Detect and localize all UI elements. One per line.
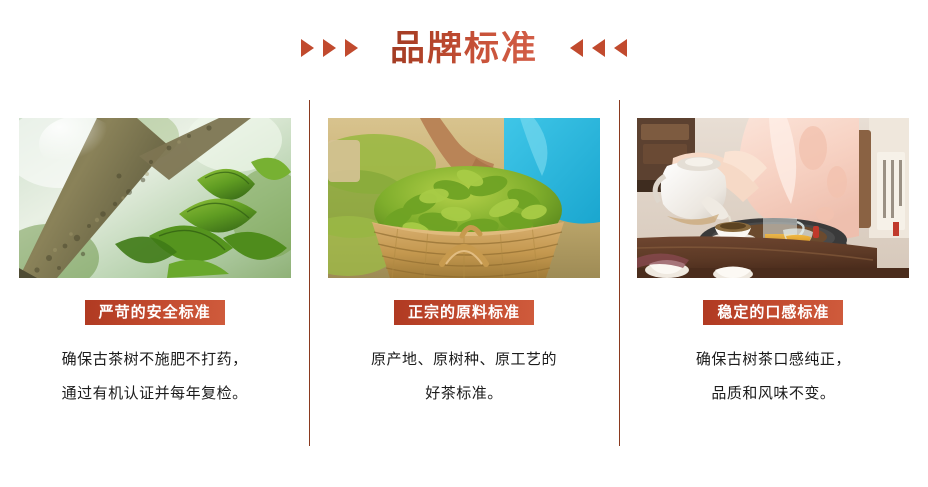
triangle-right-icon: [323, 39, 336, 57]
standard-column: 严苛的安全标准 确保古茶树不施肥不打药， 通过有机认证并每年复检。: [0, 100, 309, 450]
description-line: 确保古茶树不施肥不打药，: [62, 343, 248, 377]
description-line: 确保古树茶口感纯正，: [696, 343, 851, 377]
page-header: 品牌标准: [0, 20, 928, 76]
standards-columns: 严苛的安全标准 确保古茶树不施肥不打药， 通过有机认证并每年复检。: [0, 100, 928, 450]
description-line: 原产地、原树种、原工艺的: [371, 343, 557, 377]
description-line: 通过有机认证并每年复检。: [62, 377, 248, 411]
tea-ceremony-photo: [637, 118, 909, 278]
description-line: 好茶标准。: [371, 377, 557, 411]
column-description: 确保古茶树不施肥不打药， 通过有机认证并每年复检。: [62, 343, 248, 411]
status-badge: 稳定的口感标准: [703, 300, 843, 325]
triangle-left-icon: [592, 39, 605, 57]
description-line: 品质和风味不变。: [696, 377, 851, 411]
status-badge: 严苛的安全标准: [85, 300, 225, 325]
column-description: 确保古树茶口感纯正， 品质和风味不变。: [696, 343, 851, 411]
triangle-left-icon: [614, 39, 627, 57]
triangle-left-icon: [570, 39, 583, 57]
tea-leaf-basket-photo: [328, 118, 600, 278]
standard-column: 稳定的口感标准 确保古树茶口感纯正， 品质和风味不变。: [619, 100, 928, 450]
triangle-right-icon: [345, 39, 358, 57]
status-badge: 正宗的原料标准: [394, 300, 534, 325]
page-title: 品牌标准: [384, 31, 544, 66]
tea-tree-branch-photo: [19, 118, 291, 278]
right-arrow-group: [570, 39, 627, 57]
triangle-right-icon: [301, 39, 314, 57]
standard-column: 正宗的原料标准 原产地、原树种、原工艺的 好茶标准。: [309, 100, 618, 450]
left-arrow-group: [301, 39, 358, 57]
column-description: 原产地、原树种、原工艺的 好茶标准。: [371, 343, 557, 411]
